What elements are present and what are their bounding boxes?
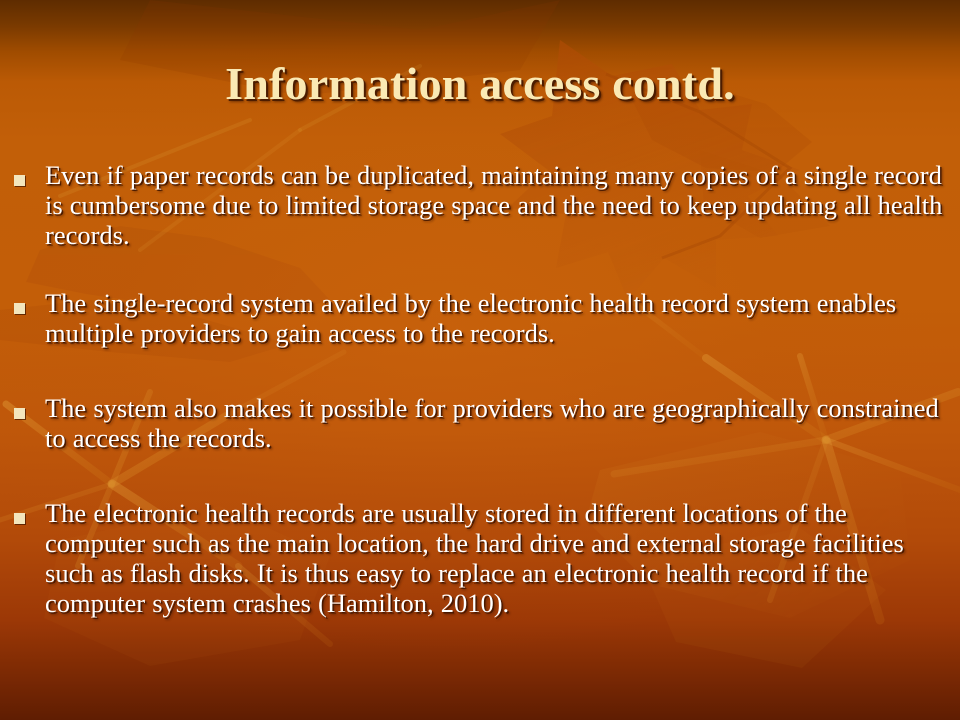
bullet-text: The electronic health records are usuall… [45,498,952,618]
square-bullet-icon [14,408,25,419]
bullet-text: Even if paper records can be duplicated,… [45,160,952,250]
slide-body-content-placeholder: Even if paper records can be duplicated,… [0,160,960,618]
bullet-list-item: The system also makes it possible for pr… [0,393,960,453]
presentation-slide: Information access contd. Even if paper … [0,0,960,720]
slide-title: Information access contd. [0,56,960,112]
bullet-list-item: The single-record system availed by the … [0,288,960,348]
bullet-list-item: Even if paper records can be duplicated,… [0,160,960,250]
bullet-text: The single-record system availed by the … [45,288,952,348]
square-bullet-icon [14,175,25,186]
square-bullet-icon [14,303,25,314]
bullet-list-item: The electronic health records are usuall… [0,498,960,618]
square-bullet-icon [14,513,25,524]
bullet-text: The system also makes it possible for pr… [45,393,952,453]
